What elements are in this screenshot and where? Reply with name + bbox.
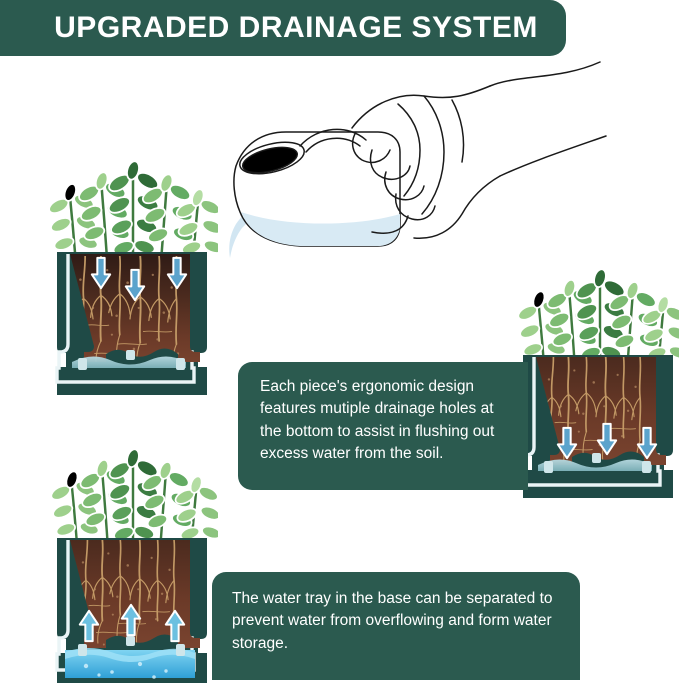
callout-drainage-holes: Each piece's ergonomic design features m… [238, 362, 528, 490]
callout-text: Each piece's ergonomic design features m… [260, 376, 514, 466]
planter-top-left [47, 160, 225, 395]
planter-right [516, 268, 679, 498]
callout-water-tray: The water tray in the base can be separa… [212, 572, 580, 680]
watering-can-illustration [234, 62, 606, 246]
callout-text: The water tray in the base can be separa… [232, 588, 566, 655]
thumb [398, 104, 420, 196]
hand-side [422, 96, 444, 214]
header-banner: UPGRADED DRAINAGE SYSTEM [0, 0, 566, 56]
infographic-canvas: UPGRADED DRAINAGE SYSTEM Each piece's er… [0, 0, 679, 690]
hand-crease [452, 100, 464, 162]
planter-bottom-left [49, 448, 222, 683]
hand-outline-top [352, 86, 490, 128]
arm-top [490, 62, 600, 86]
arm-bottom [500, 136, 606, 176]
page-title: UPGRADED DRAINAGE SYSTEM [28, 13, 538, 43]
